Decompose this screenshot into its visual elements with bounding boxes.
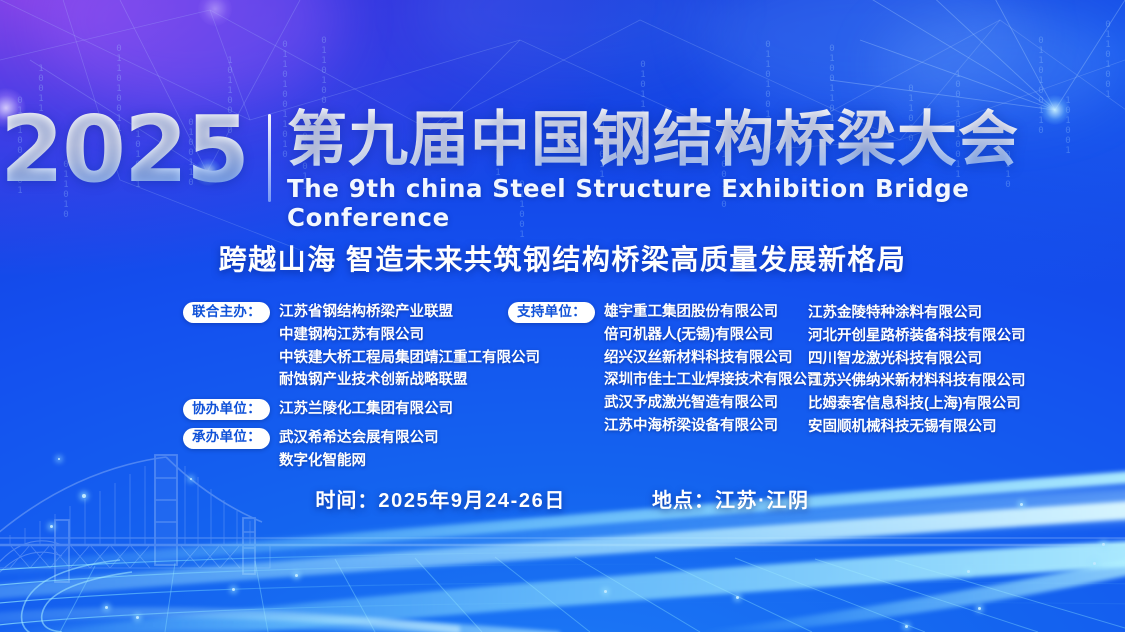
event-location-label: 地点： bbox=[652, 490, 715, 512]
conference-banner: 0101001101 10011010 0110100110 101001 01… bbox=[0, 0, 1125, 632]
list-item: 武汉予成激光智造有限公司 bbox=[604, 392, 822, 415]
title-divider bbox=[268, 114, 271, 202]
list-item: 河北开创星路桥装备科技有限公司 bbox=[808, 325, 1023, 348]
list-item: 倍可机器人(无锡)有限公司 bbox=[604, 324, 822, 347]
conference-title-cn: 第九届中国钢结构桥梁大会 bbox=[287, 108, 1125, 172]
group-supporters: 支持单位： 雄宇重工集团股份有限公司 倍可机器人(无锡)有限公司 绍兴汉丝新材料… bbox=[508, 301, 808, 438]
event-date-value: 2025年9月24-26日 bbox=[378, 490, 566, 512]
list-item: 雄宇重工集团股份有限公司 bbox=[604, 301, 822, 324]
list-item: 江苏中海桥梁设备有限公司 bbox=[604, 415, 822, 438]
event-location: 地点：江苏·江阴 bbox=[652, 484, 810, 513]
label-co-organizer: 协办单位： bbox=[183, 399, 270, 420]
list-item: 深圳市佳士工业焊接技术有限公司 bbox=[604, 369, 822, 392]
conference-title-en: The 9th china Steel Structure Exhibition… bbox=[287, 174, 1125, 232]
group-co-organizer: 协办单位： 江苏兰陵化工集团有限公司 bbox=[183, 398, 508, 421]
list-item: 江苏金陵特种涂料有限公司 bbox=[808, 302, 1023, 325]
undertaker-list: 武汉希希达会展有限公司 数字化智能网 bbox=[279, 427, 439, 473]
list-item: 江苏兰陵化工集团有限公司 bbox=[279, 398, 453, 421]
group-co-hosts: 联合主办： 江苏省钢结构桥梁产业联盟 中建钢构江苏有限公司 中铁建大桥工程局集团… bbox=[183, 301, 508, 392]
list-item: 江苏兴佛纳米新材料科技有限公司 bbox=[808, 370, 1023, 393]
list-item: 耐蚀钢产业技术创新战略联盟 bbox=[279, 369, 540, 392]
list-item: 比姆泰客信息科技(上海)有限公司 bbox=[808, 393, 1023, 416]
event-date: 时间：2025年9月24-26日 bbox=[315, 484, 566, 513]
list-item: 中铁建大桥工程局集团靖江重工有限公司 bbox=[279, 347, 540, 370]
list-item: 江苏省钢结构桥梁产业联盟 bbox=[279, 301, 540, 324]
list-item: 中建钢构江苏有限公司 bbox=[279, 324, 540, 347]
supporters-list: 雄宇重工集团股份有限公司 倍可机器人(无锡)有限公司 绍兴汉丝新材料科技有限公司… bbox=[604, 301, 822, 438]
list-item: 武汉希希达会展有限公司 bbox=[279, 427, 439, 450]
label-undertaker: 承办单位： bbox=[183, 428, 270, 449]
list-item: 绍兴汉丝新材料科技有限公司 bbox=[604, 347, 822, 370]
event-date-label: 时间： bbox=[315, 490, 378, 512]
year-2025: 2025 bbox=[0, 108, 250, 193]
co-organizer-list: 江苏兰陵化工集团有限公司 bbox=[279, 398, 453, 421]
sponsor-section: 联合主办： 江苏省钢结构桥梁产业联盟 中建钢构江苏有限公司 中铁建大桥工程局集团… bbox=[183, 301, 1063, 479]
list-item: 安固顺机械科技无锡有限公司 bbox=[808, 416, 1023, 439]
event-location-value: 江苏·江阴 bbox=[715, 490, 810, 512]
sponsor-column-middle: 支持单位： 雄宇重工集团股份有限公司 倍可机器人(无锡)有限公司 绍兴汉丝新材料… bbox=[508, 301, 808, 444]
title-header: 2025 第九届中国钢结构桥梁大会 The 9th china Steel St… bbox=[0, 108, 1125, 232]
list-item: 四川智龙激光科技有限公司 bbox=[808, 348, 1023, 371]
event-footer: 时间：2025年9月24-26日 地点：江苏·江阴 bbox=[0, 484, 1125, 513]
group-undertaker: 承办单位： 武汉希希达会展有限公司 数字化智能网 bbox=[183, 427, 508, 473]
conference-slogan: 跨越山海 智造未来共筑钢结构桥梁高质量发展新格局 bbox=[0, 238, 1125, 278]
sponsor-column-right: 江苏金陵特种涂料有限公司 河北开创星路桥装备科技有限公司 四川智龙激光科技有限公… bbox=[808, 301, 1023, 439]
label-co-hosts: 联合主办： bbox=[183, 302, 270, 323]
sponsor-column-left: 联合主办： 江苏省钢结构桥梁产业联盟 中建钢构江苏有限公司 中铁建大桥工程局集团… bbox=[183, 301, 508, 479]
label-supporters: 支持单位： bbox=[508, 302, 595, 323]
list-item: 数字化智能网 bbox=[279, 450, 439, 473]
co-hosts-list: 江苏省钢结构桥梁产业联盟 中建钢构江苏有限公司 中铁建大桥工程局集团靖江重工有限… bbox=[279, 301, 540, 392]
